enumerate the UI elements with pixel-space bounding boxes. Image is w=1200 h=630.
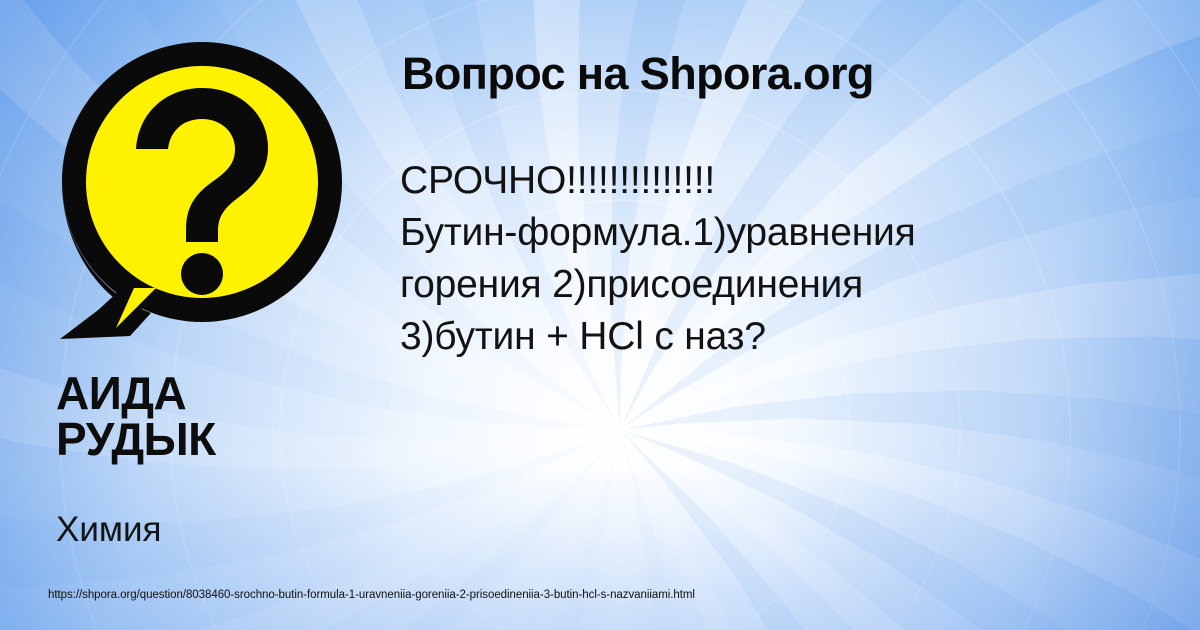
question-share-card: АИДА РУДЫК Химия Вопрос на Shpora.org СР… [0,0,1200,630]
page-title: Вопрос на Shpora.org [402,51,1162,96]
source-url[interactable]: https://shpora.org/question/8038460-sroc… [48,589,695,601]
subject-label: Химия [56,512,376,549]
swirl-ray [620,430,1200,630]
swirl-ray [620,430,1200,630]
question-text: СРОЧНО!!!!!!!!!!!!!! Бутин-формула.1)ура… [400,155,1168,362]
swirl-ray [620,430,1200,630]
speech-bubble-svg [52,36,352,346]
author-name: АИДА РУДЫК [56,371,376,462]
question-speech-bubble-icon [52,36,352,346]
swirl-ray [620,391,1200,630]
